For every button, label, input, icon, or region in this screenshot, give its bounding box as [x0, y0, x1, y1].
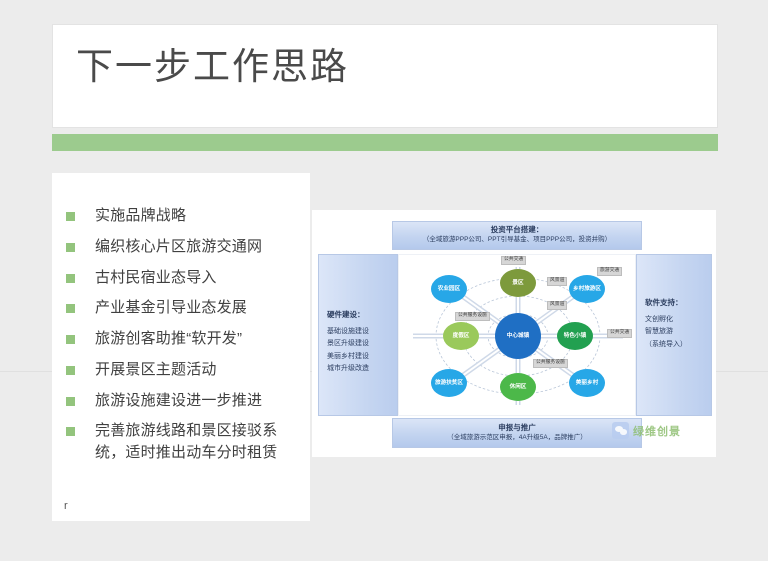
- diagram-node-leisure: 休闲区: [500, 373, 536, 401]
- left-panel-item: 景区升级建设: [327, 338, 397, 350]
- watermark-label: 绿维创景: [633, 423, 681, 439]
- node-label: 景区: [512, 280, 523, 287]
- list-item-label: 旅游设施建设进一步推进: [95, 390, 262, 412]
- connector-tag: 公共交通: [607, 329, 632, 338]
- list-item[interactable]: 旅游创客助推“软开发”: [66, 328, 302, 350]
- list-item[interactable]: 产业基金引导业态发展: [66, 297, 302, 319]
- diagram-node-beautiful-village: 美丽乡村: [569, 369, 605, 397]
- connector-tag: 公共交通: [501, 256, 526, 265]
- node-label: 中心城镇: [507, 333, 529, 340]
- diagram-node-rural-tourism: 乡村旅游区: [569, 275, 605, 303]
- node-label: 度假区: [453, 333, 470, 340]
- list-item-label: 编织核心片区旅游交通网: [95, 236, 262, 258]
- diagram-image: 投资平台搭建： （全域旅游PPP公司、PPT引导基金、项目PPP公司，投资并购）…: [312, 210, 716, 457]
- bottom-band-title: 申报与推广: [393, 423, 641, 433]
- left-panel-item: 基础设施建设: [327, 326, 397, 338]
- diagram-node-center: 中心城镇: [495, 313, 541, 359]
- stray-character: r: [64, 500, 68, 512]
- list-item[interactable]: 编织核心片区旅游交通网: [66, 236, 302, 258]
- diagram-node-agri-park: 农业园区: [431, 275, 467, 303]
- right-panel-title: 软件支持：: [645, 297, 711, 308]
- list-item[interactable]: 旅游设施建设进一步推进: [66, 390, 302, 412]
- list-item[interactable]: 开展景区主题活动: [66, 359, 302, 381]
- list-item-label: 完善旅游线路和景区接驳系统，适时推出动车分时租赁: [95, 420, 302, 464]
- bullet-square-icon: [66, 212, 75, 221]
- bullet-square-icon: [66, 366, 75, 375]
- right-panel-item: （系统导入）: [645, 339, 711, 351]
- connector-tag: 公共服务设施: [533, 359, 568, 368]
- diagram-canvas: 中心城镇 景区 农业园区 乡村旅游区 度假区 特色小镇 旅游扶贫区 休闲区 美丽…: [398, 254, 636, 416]
- bullet-square-icon: [66, 243, 75, 252]
- bullet-square-icon: [66, 335, 75, 344]
- diagram-bottom-band: 申报与推广 （全域旅游示范区申报，4A升级5A，品牌推广）: [392, 418, 642, 448]
- bullet-square-icon: [66, 304, 75, 313]
- node-label: 特色小镇: [564, 333, 586, 340]
- top-band-subtitle: （全域旅游PPP公司、PPT引导基金、项目PPP公司，投资并购）: [393, 235, 641, 244]
- title-accent-bar: [52, 134, 718, 151]
- list-item[interactable]: 实施品牌战略: [66, 205, 302, 227]
- diagram-node-scenic: 景区: [500, 269, 536, 297]
- list-item[interactable]: 古村民宿业态导入: [66, 267, 302, 289]
- connector-tag: 旅游交通: [597, 267, 622, 276]
- list-item-label: 实施品牌战略: [95, 205, 186, 227]
- diagram-node-poverty-alleviation: 旅游扶贫区: [431, 369, 467, 397]
- left-panel-item: 城市升级改造: [327, 363, 397, 375]
- bullet-panel: 实施品牌战略 编织核心片区旅游交通网 古村民宿业态导入 产业基金引导业态发展 旅…: [52, 173, 310, 521]
- connector-tag: 风景道: [547, 301, 567, 310]
- watermark: 绿维创景: [612, 422, 681, 439]
- node-label: 旅游扶贫区: [435, 380, 463, 387]
- node-label: 美丽乡村: [576, 380, 598, 387]
- left-panel-title: 硬件建设：: [327, 309, 397, 320]
- right-panel-item: 智慧旅游: [645, 326, 711, 338]
- list-item-label: 古村民宿业态导入: [95, 267, 217, 289]
- left-panel-item: 美丽乡村建设: [327, 351, 397, 363]
- list-item[interactable]: 完善旅游线路和景区接驳系统，适时推出动车分时租赁: [66, 420, 302, 464]
- diagram-left-panel: 硬件建设： 基础设施建设 景区升级建设 美丽乡村建设 城市升级改造: [318, 254, 398, 416]
- list-item-label: 产业基金引导业态发展: [95, 297, 247, 319]
- diagram-node-resort: 度假区: [443, 322, 479, 350]
- bullet-list: 实施品牌战略 编织核心片区旅游交通网 古村民宿业态导入 产业基金引导业态发展 旅…: [66, 205, 302, 473]
- bullet-square-icon: [66, 427, 75, 436]
- connector-tag: 公共服务设施: [455, 312, 490, 321]
- bullet-square-icon: [66, 397, 75, 406]
- diagram-right-panel: 软件支持： 文创孵化 智慧旅游 （系统导入）: [636, 254, 712, 416]
- node-label: 农业园区: [438, 286, 460, 293]
- connector-tag: 风景道: [547, 277, 567, 286]
- diagram-top-band: 投资平台搭建： （全域旅游PPP公司、PPT引导基金、项目PPP公司，投资并购）: [392, 221, 642, 250]
- list-item-label: 开展景区主题活动: [95, 359, 217, 381]
- node-label: 休闲区: [510, 384, 527, 391]
- page-title: 下一步工作思路: [76, 47, 349, 88]
- diagram-node-feature-town: 特色小镇: [557, 322, 593, 350]
- right-panel-item: 文创孵化: [645, 314, 711, 326]
- node-label: 乡村旅游区: [573, 286, 601, 293]
- list-item-label: 旅游创客助推“软开发”: [95, 328, 242, 350]
- bottom-band-subtitle: （全域旅游示范区申报，4A升级5A，品牌推广）: [393, 433, 641, 442]
- top-band-title: 投资平台搭建：: [393, 225, 641, 235]
- wechat-icon: [612, 422, 629, 439]
- bullet-square-icon: [66, 274, 75, 283]
